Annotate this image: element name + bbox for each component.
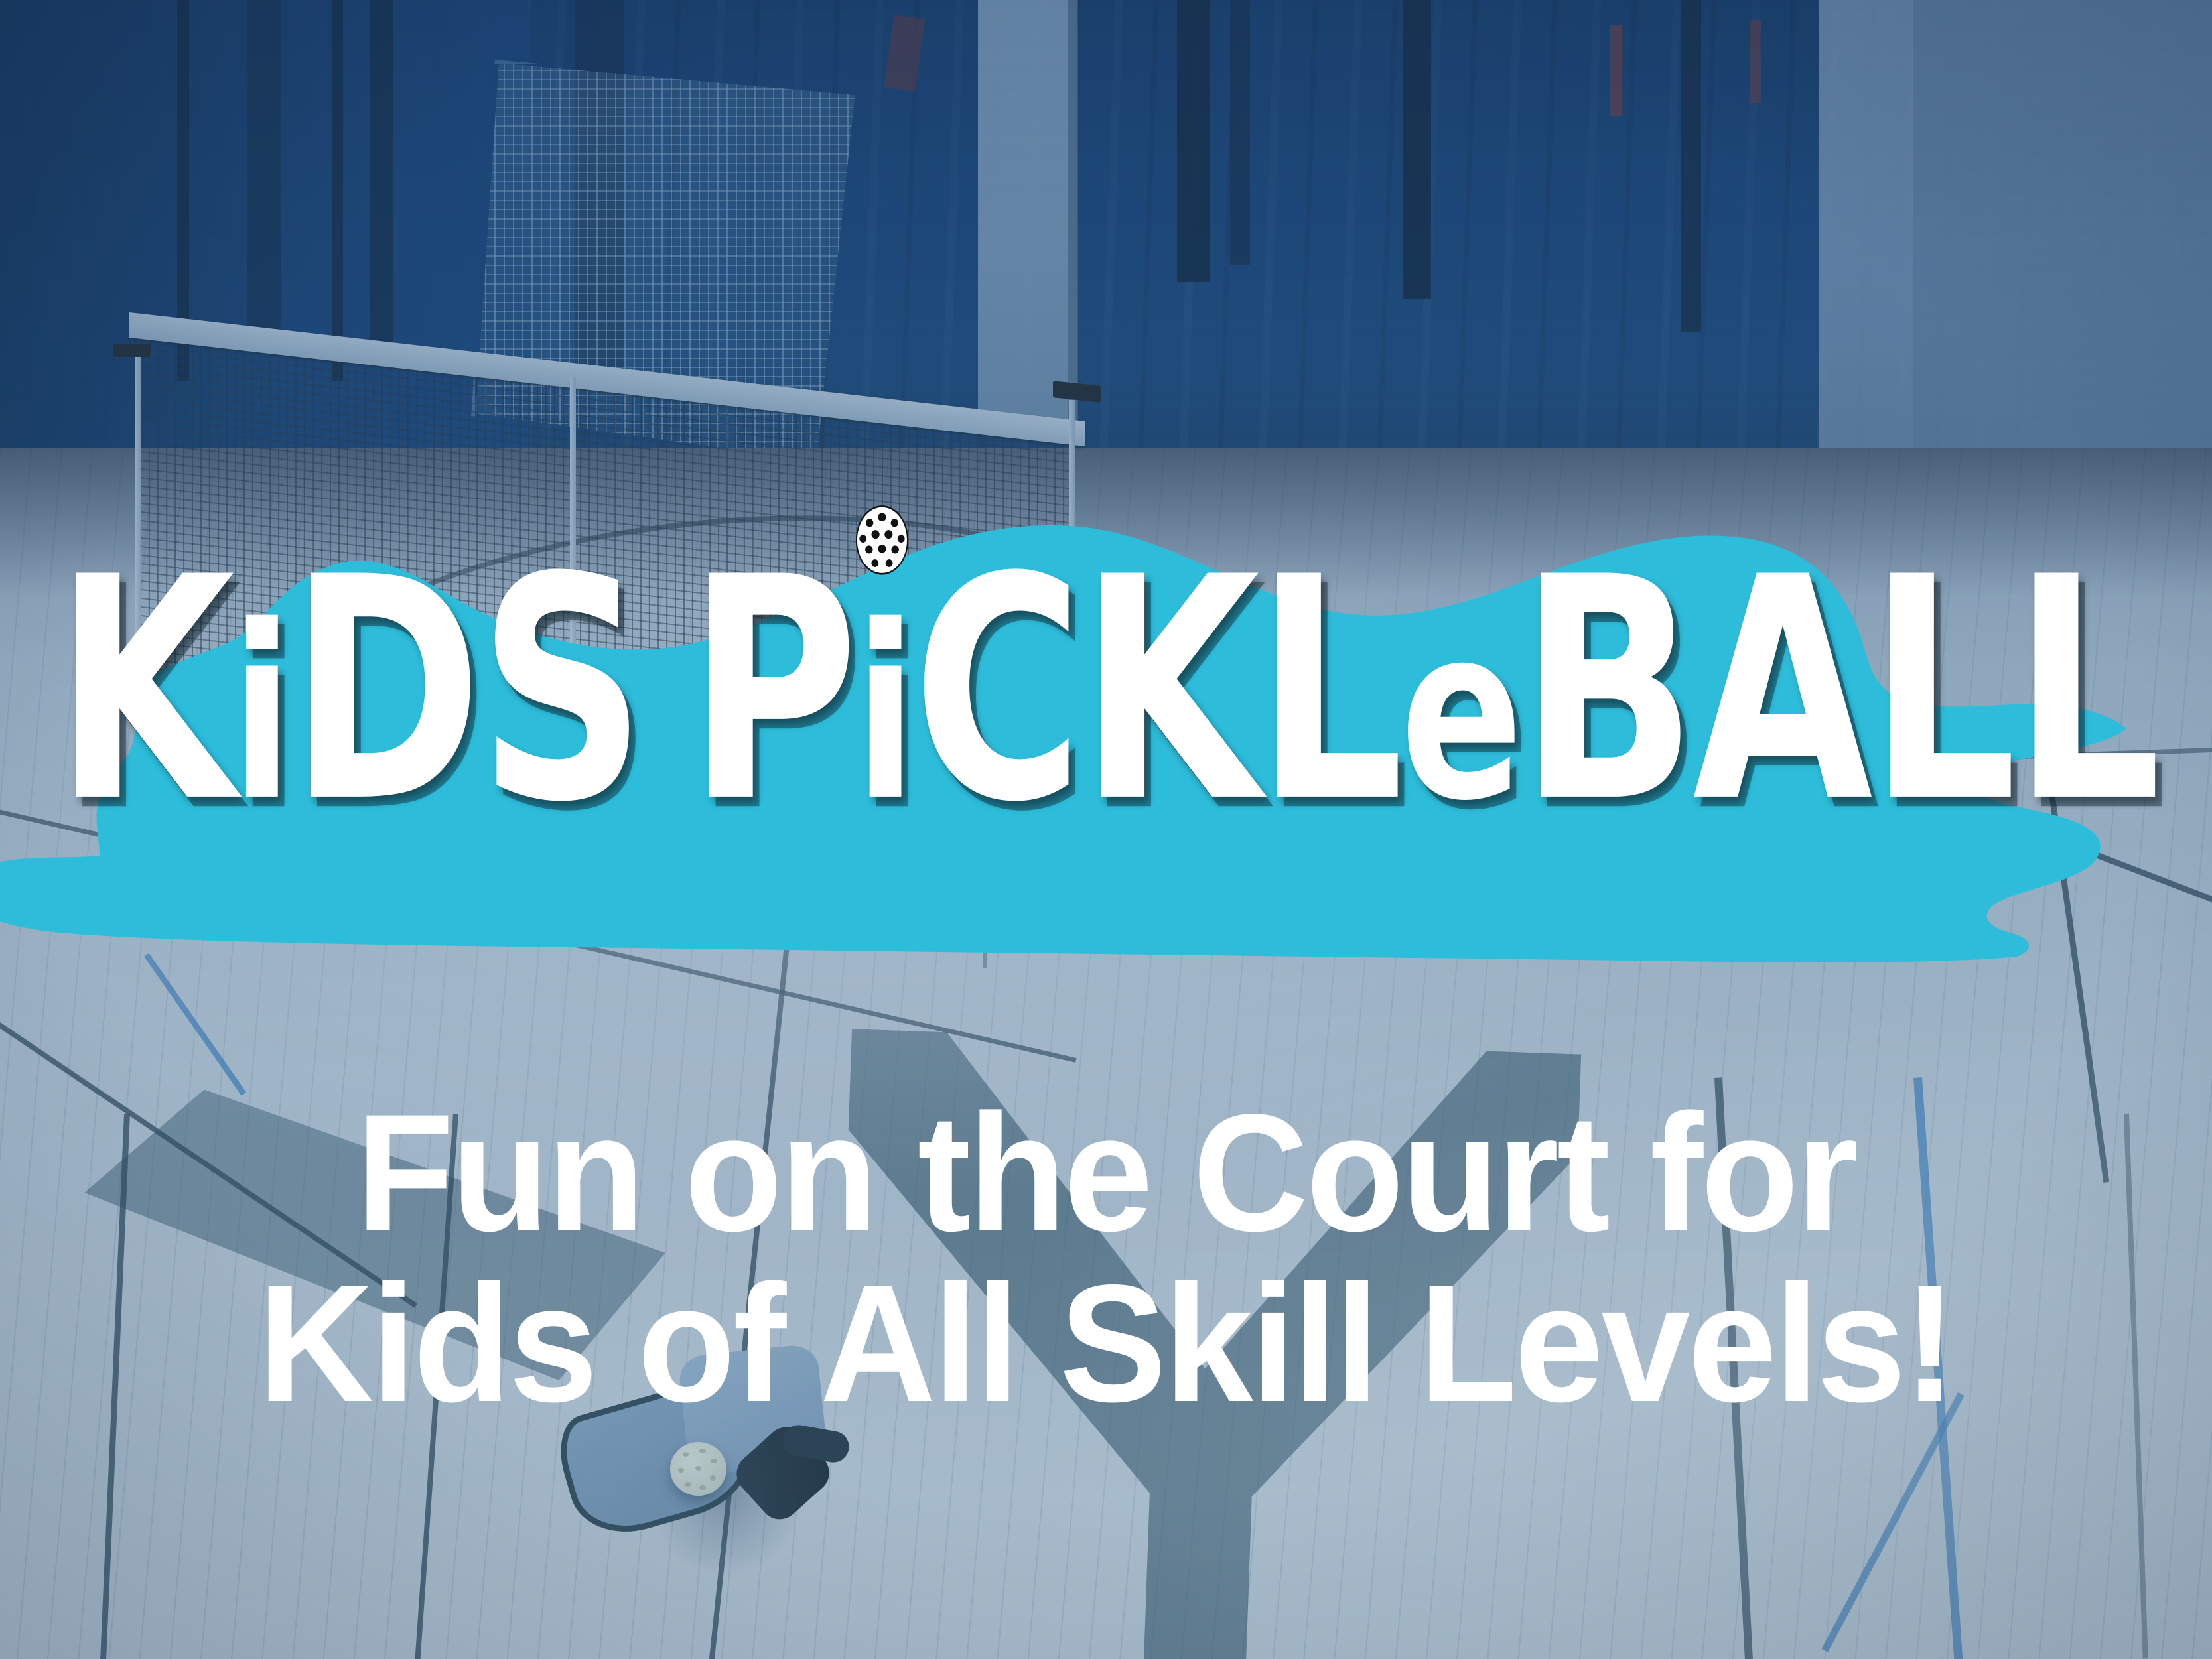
banner-brushstroke-shape bbox=[0, 458, 2212, 962]
poster-canvas: KiDSPi bbox=[0, 0, 2212, 1659]
title-banner bbox=[0, 458, 2212, 962]
